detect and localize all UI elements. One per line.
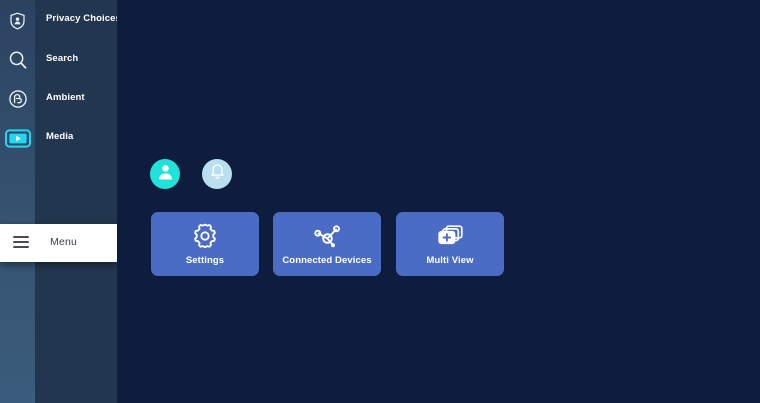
tile-connected-devices[interactable]: Connected Devices (273, 212, 381, 276)
network-nodes-icon (312, 223, 342, 249)
tile-settings[interactable]: Settings (151, 212, 259, 276)
menu-label: Menu (50, 236, 77, 248)
notifications-button[interactable] (202, 159, 232, 189)
sidebar-item-privacy-choices[interactable] (0, 4, 35, 38)
tile-multi-view[interactable]: Multi View (396, 212, 504, 276)
media-play-icon (5, 129, 31, 148)
search-icon (8, 50, 28, 70)
bell-icon (209, 163, 226, 186)
sidebar-label-panel: Privacy Choices Search Ambient Media (35, 0, 117, 403)
gear-icon (192, 223, 218, 249)
sidebar-icon-rail (0, 0, 35, 403)
ambient-icon (8, 89, 28, 109)
stacked-windows-plus-icon (436, 223, 464, 249)
menu-button[interactable]: Menu (0, 224, 117, 262)
hamburger-icon (13, 236, 29, 250)
profile-button[interactable] (150, 159, 180, 189)
shield-person-icon (9, 12, 26, 30)
sidebar-item-search[interactable] (0, 43, 35, 77)
sidebar-item-media[interactable] (0, 121, 35, 155)
sidebar-item-ambient[interactable] (0, 82, 35, 116)
user-avatar-icon (156, 162, 175, 186)
tile-label-connected-devices: Connected Devices (282, 255, 371, 266)
tv-home-screen: Privacy Choices Search Ambient Media Men… (0, 0, 760, 403)
tile-label-multi-view: Multi View (426, 255, 473, 266)
tile-label-settings: Settings (186, 255, 224, 266)
main-content: Settings Connected Devices (117, 0, 760, 403)
